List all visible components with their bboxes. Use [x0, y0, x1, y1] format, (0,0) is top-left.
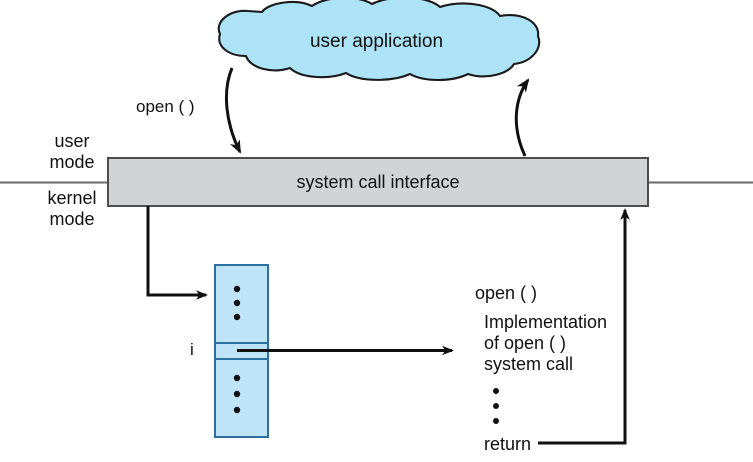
impl-dot-1	[493, 388, 499, 394]
table-dot-top-3	[234, 314, 240, 320]
return-to-application-arrow	[516, 80, 528, 156]
system-call-interface-label: system call interface	[108, 172, 648, 193]
open-call-arrow	[226, 68, 240, 152]
table-dot-top-1	[234, 286, 240, 292]
impl-dot-3	[493, 418, 499, 424]
implementation-body-label: Implementation of open ( ) system call	[484, 312, 607, 376]
table-dot-bottom-1	[234, 375, 240, 381]
diagram-canvas: user application system call interface u…	[0, 0, 753, 462]
implementation-header-label: open ( )	[475, 283, 537, 304]
diagram-vector-layer	[0, 0, 753, 462]
table-dot-bottom-2	[234, 391, 240, 397]
kernel-mode-label: kernel mode	[30, 188, 114, 230]
bar-to-table-arrow	[148, 206, 206, 295]
user-mode-label: user mode	[30, 131, 114, 173]
table-index-label: i	[190, 340, 194, 360]
implementation-return-label: return	[484, 434, 531, 455]
table-dot-bottom-3	[234, 407, 240, 413]
table-dot-top-2	[234, 300, 240, 306]
open-call-label: open ( )	[136, 97, 195, 117]
user-application-label: user application	[0, 31, 753, 53]
impl-dot-2	[493, 403, 499, 409]
